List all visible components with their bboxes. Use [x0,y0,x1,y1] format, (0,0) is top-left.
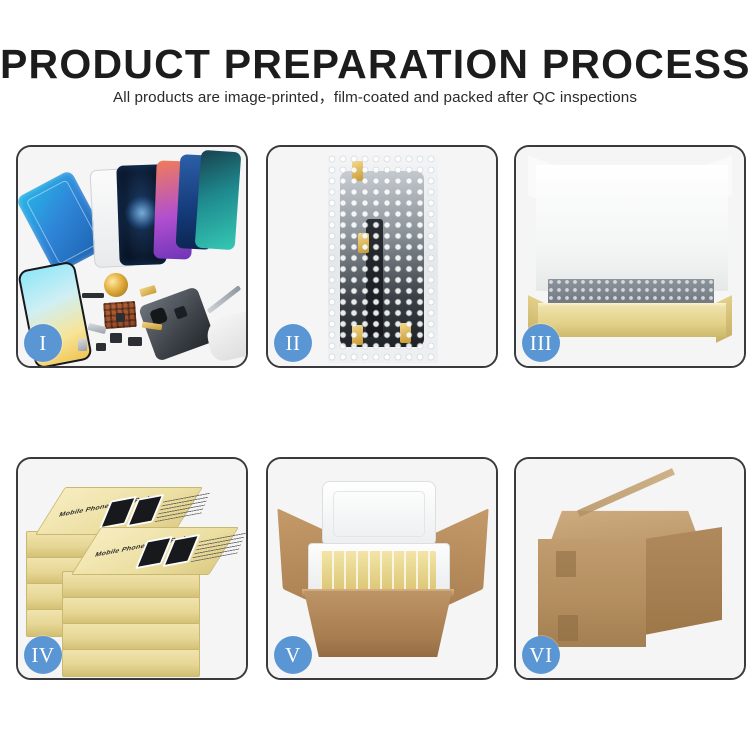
carton-tape-image [558,615,578,641]
small-part-image [116,313,125,322]
teal-phone-image [195,150,242,251]
step-panel-5: V [266,457,498,680]
step-panel-4: Mobile Phone Spare Parts Mobile Phone Sp… [16,457,248,680]
tweezers-image [207,285,242,314]
step-panel-3: III [514,145,746,368]
step-badge-5: V [274,636,312,674]
wrapped-screen-image [340,171,424,347]
page-title: PRODUCT PREPARATION PROCESS [0,41,750,87]
step-badge-1: I [24,324,62,362]
flex-cable-image [366,219,383,337]
kraft-box-printed-face-image: Mobile Phone Spare Parts [71,527,239,575]
kraft-box-image [62,597,200,625]
small-part-image [82,293,104,298]
page-subtitle: All products are image-printed，film-coat… [0,88,750,108]
step-badge-2: II [274,324,312,362]
step-panel-1: I [16,145,248,368]
gold-connector-image [400,323,411,343]
small-part-image [128,337,142,346]
step-badge-6: VI [522,636,560,674]
gold-connector-image [352,325,363,345]
gold-coil-part-image [102,271,129,298]
carton-seam-image [577,468,675,517]
step-badge-4: IV [24,636,62,674]
small-part-image [139,285,157,297]
kraft-box-front-image [538,307,726,337]
kraft-box-image [62,649,200,677]
small-part-image [96,343,106,351]
gold-connector-image [358,233,369,253]
carton-tape-image [556,551,576,577]
foam-cooler-lid-image [322,481,436,547]
kraft-box-stack-image: Mobile Phone Spare Parts Mobile Phone Sp… [26,475,242,669]
packed-kraft-boxes-image [320,551,436,589]
process-step-grid: I II III [16,145,734,680]
small-part-image [110,333,122,343]
bubble-wrap-bag-image [328,155,438,363]
carton-side-image [644,527,722,635]
kraft-box-image [62,623,200,651]
gold-connector-image [352,161,363,181]
kraft-box-image [62,571,200,599]
step-panel-6: VI [514,457,746,680]
step-badge-3: III [522,324,560,362]
foam-liner-image [536,165,728,291]
step-panel-2: II [266,145,498,368]
carton-front-image [538,539,646,647]
hand-image [204,311,246,364]
small-part-image [78,339,87,351]
header: PRODUCT PREPARATION PROCESS All products… [0,0,750,130]
carton-body-image [304,591,452,657]
